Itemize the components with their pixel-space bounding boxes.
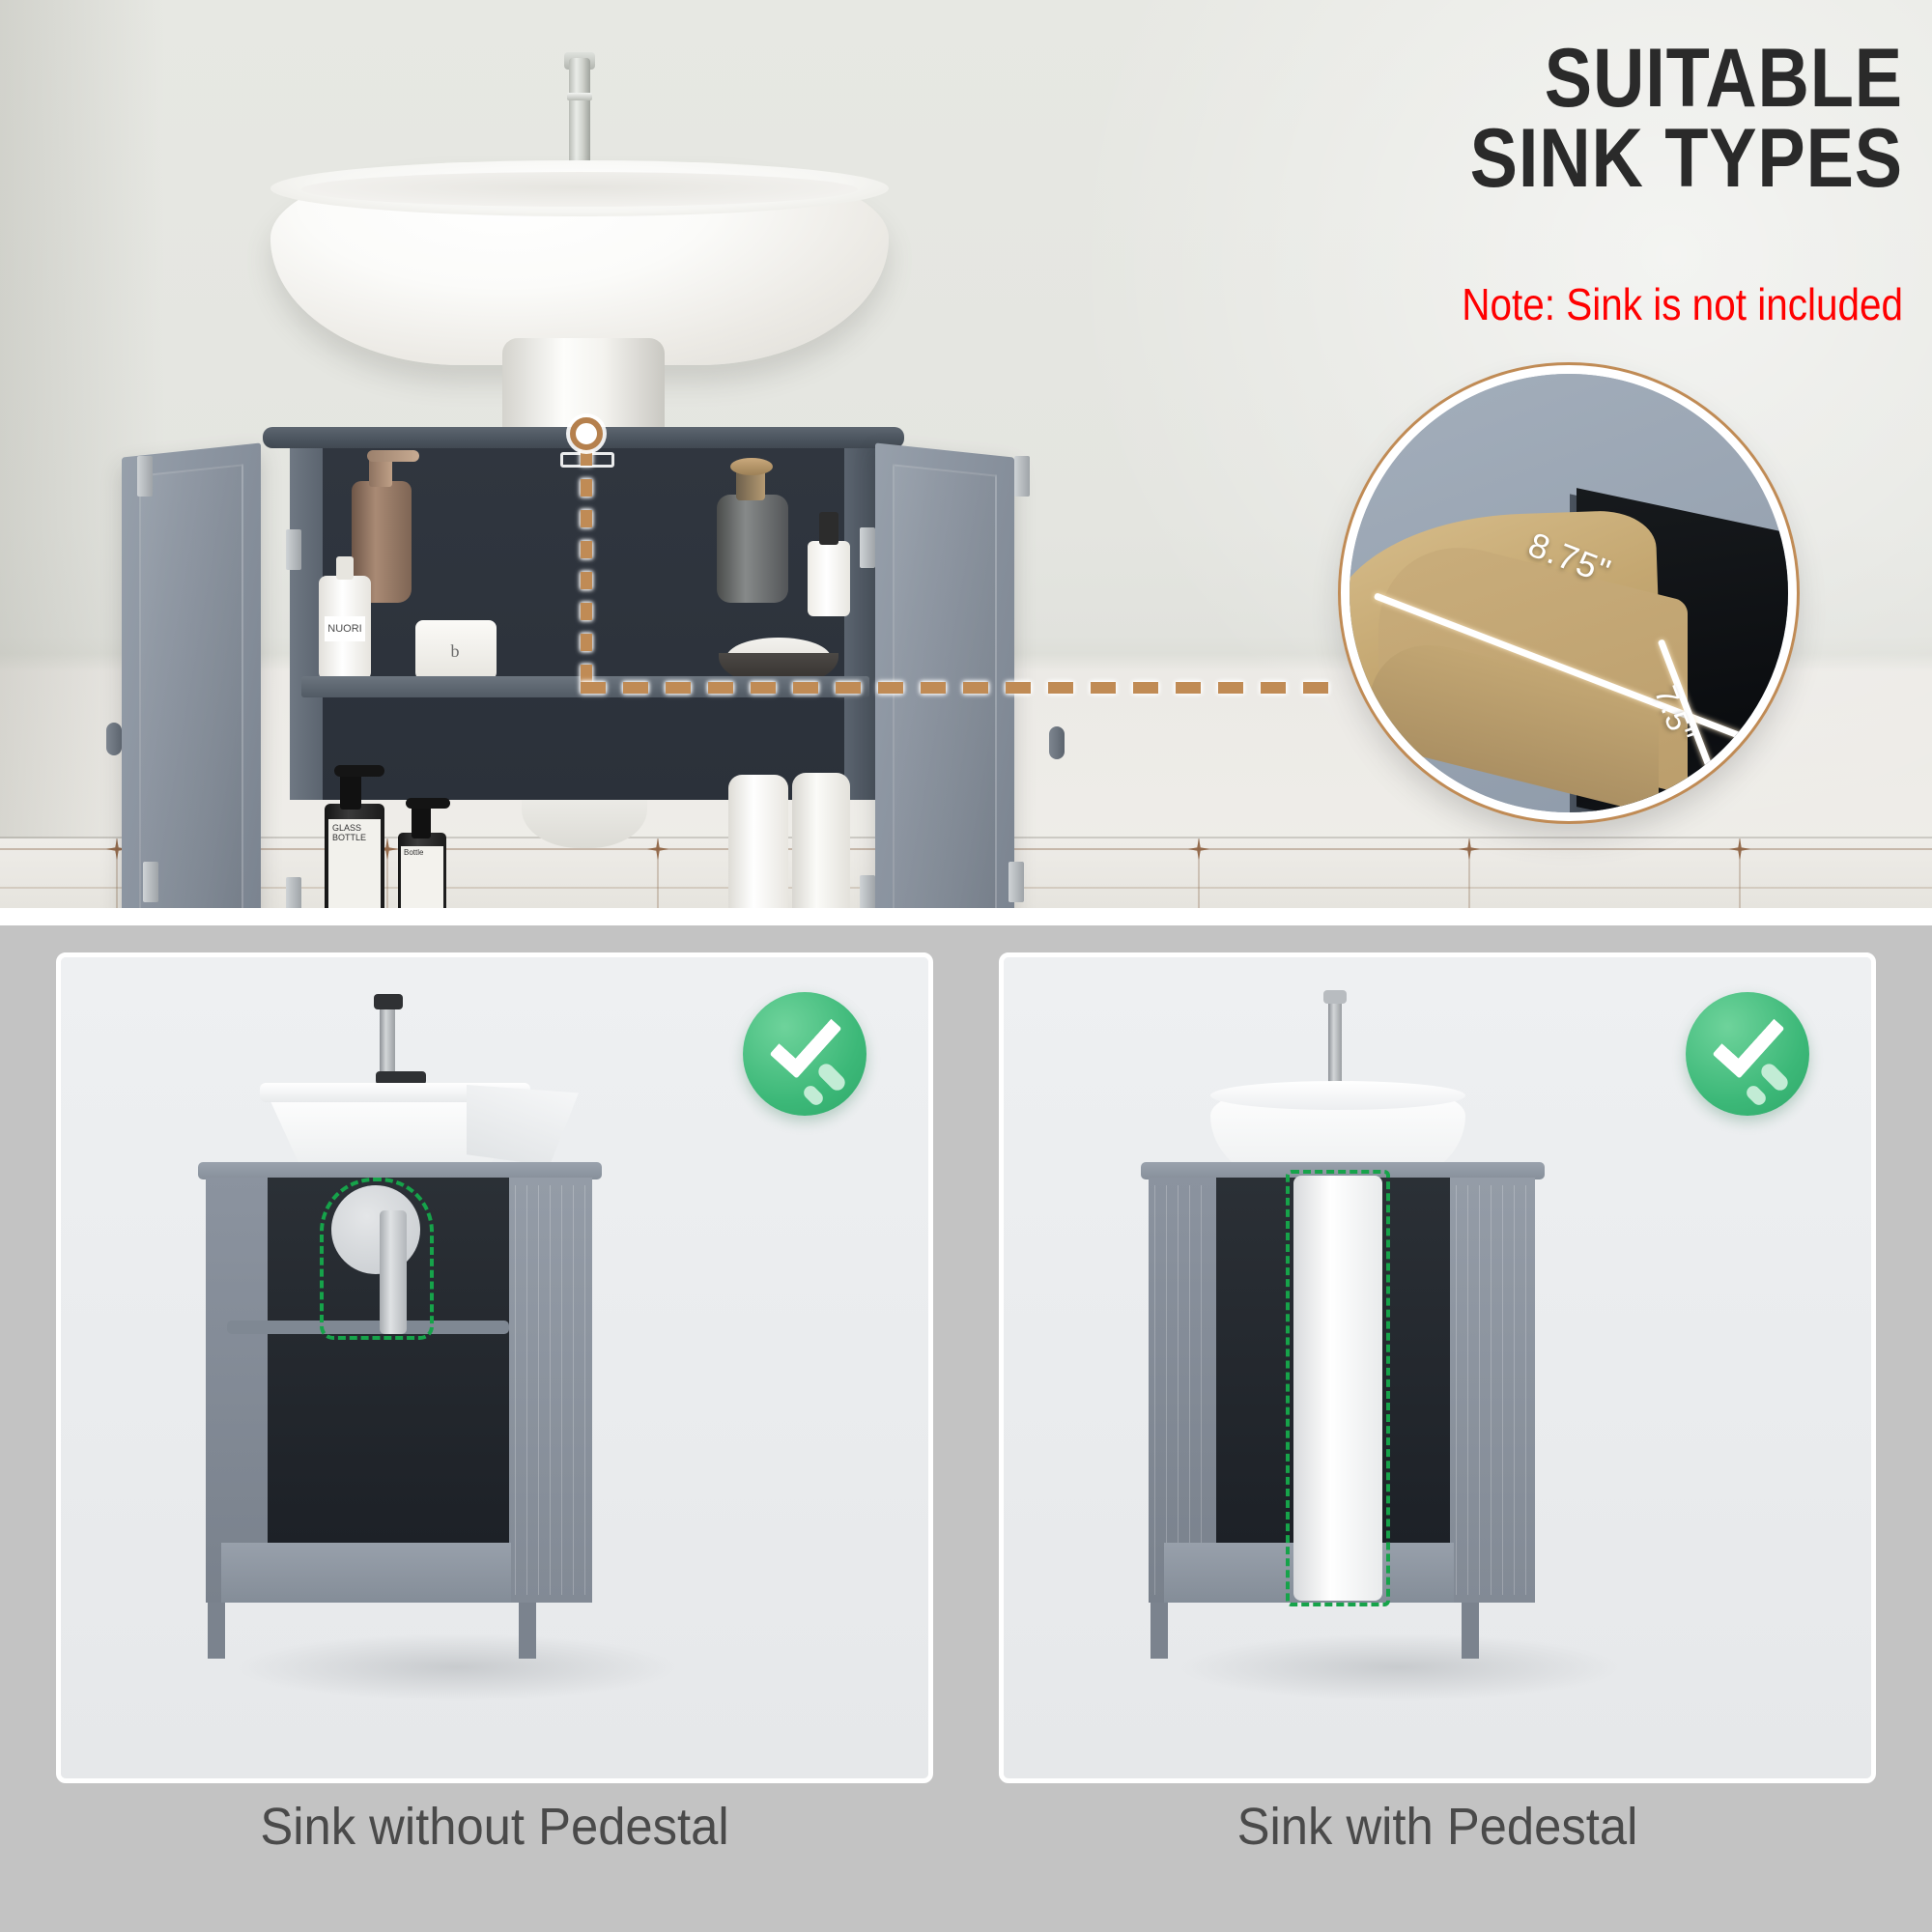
mini-cabinet-leg-right: [1462, 1603, 1479, 1659]
hinge-icon: [860, 875, 875, 908]
tile-star-motif: [1188, 838, 1209, 860]
mini-door-grooves: [1456, 1185, 1529, 1595]
hinge-icon: [1014, 456, 1030, 497]
drain-plate: [331, 1185, 420, 1274]
bottle-label: GLASS BOTTLE: [328, 819, 381, 908]
pump-head: [334, 765, 384, 777]
pump-head: [367, 450, 419, 462]
magnifier-inset: 8.75" 7.5": [1341, 365, 1797, 821]
hinge-icon: [860, 527, 875, 568]
mini-faucet-head: [374, 994, 403, 1009]
comparison-section: Sink without Pedestal Sink with Pedestal: [0, 925, 1932, 1932]
jar-label: b: [440, 641, 469, 663]
check-accent-dash-1: [1758, 1061, 1791, 1094]
cabinet-door-left[interactable]: [122, 442, 261, 908]
caption-without-pedestal: Sink without Pedestal: [82, 1797, 907, 1857]
title-line-1: SUITABLE: [1172, 39, 1903, 119]
door-knob-right[interactable]: [1049, 726, 1065, 759]
bottle-label: Bottle: [401, 846, 443, 908]
callout-line-vertical: [581, 448, 592, 690]
comparison-panel-with-pedestal: [999, 952, 1876, 1783]
page-title: SUITABLE SINK TYPES: [1172, 39, 1903, 198]
status-badge-check: [1686, 992, 1809, 1116]
lotion-bottle-white-1: [728, 775, 788, 908]
mini-cabinet-leg-left: [208, 1603, 225, 1659]
dropper-cap: [819, 512, 838, 545]
lotion-bottle-white-2: [792, 773, 850, 908]
hinge-icon: [1009, 862, 1024, 902]
mini-cabinet-plinth: [221, 1543, 511, 1603]
tile-star-motif: [647, 838, 668, 860]
tile-star-motif: [1459, 838, 1480, 860]
faucet-band: [567, 93, 592, 100]
hinge-icon: [137, 456, 153, 497]
hinge-icon: [143, 862, 158, 902]
hinge-icon: [286, 529, 301, 570]
status-badge-check: [743, 992, 867, 1116]
pump-neck: [412, 806, 431, 838]
hinge-icon: [286, 877, 301, 908]
mini-cabinet-leg-right: [519, 1603, 536, 1659]
cabinet-door-right[interactable]: [875, 442, 1014, 908]
toiletry-bottle-smoked: [717, 495, 788, 603]
pump-neck: [336, 556, 354, 580]
mini-faucet-head: [1323, 990, 1347, 1004]
pedestal-clearance-highlight: [1286, 1170, 1390, 1606]
check-accent-dash-2: [801, 1083, 825, 1107]
door-knob-left[interactable]: [106, 723, 122, 755]
drain-pipe: [380, 1210, 407, 1334]
disclaimer-note: Note: Sink is not included: [1155, 278, 1903, 330]
cabinet-side-right: [844, 444, 877, 800]
check-accent-dash-1: [815, 1061, 848, 1094]
mini-cabinet-leg-left: [1151, 1603, 1168, 1659]
title-line-2: SINK TYPES: [1172, 119, 1903, 199]
door-panel-inset: [139, 464, 243, 908]
bottle-label: NUORI: [325, 616, 365, 641]
mini-sink-rim: [1210, 1081, 1465, 1110]
floor-shadow: [1178, 1634, 1622, 1701]
floor-shadow: [235, 1634, 679, 1701]
cabinet-side-left: [290, 444, 323, 800]
mini-cabinet-side-left: [206, 1178, 268, 1603]
pump-head: [406, 798, 450, 809]
caption-with-pedestal: Sink with Pedestal: [1025, 1797, 1850, 1857]
hero-scene: NUORI b GLASS BOTTLE Bottle S: [0, 0, 1932, 908]
callout-marker-dot: [570, 417, 603, 450]
mini-door-grooves: [515, 1185, 586, 1595]
pump-neck: [340, 773, 361, 810]
comparison-panel-without-pedestal: [56, 952, 933, 1783]
tile-star-motif: [1729, 838, 1750, 860]
section-divider: [0, 908, 1932, 925]
check-accent-dash-2: [1744, 1083, 1768, 1107]
dropper-bottle: [808, 541, 850, 616]
callout-line-horizontal: [581, 682, 1344, 694]
faucet-icon: [569, 58, 590, 174]
sink-basin-inner: [301, 172, 858, 207]
bottle-cap-top: [730, 458, 773, 475]
mini-door-grooves: [1154, 1185, 1210, 1595]
